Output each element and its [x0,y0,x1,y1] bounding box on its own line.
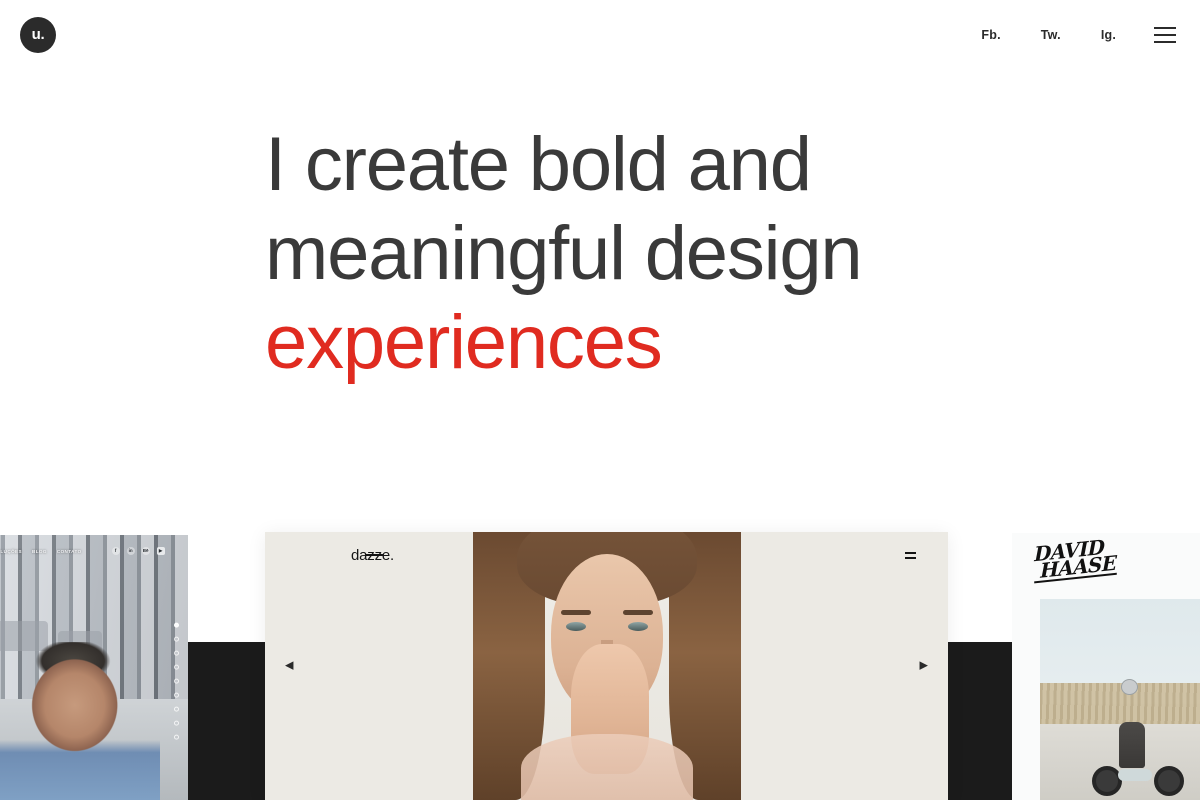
dazze-logo-pre: da [351,547,367,564]
eyebrow-left [561,610,591,615]
project-card-left[interactable]: SOLUÇÕES BLOG CONTATO f in Bē ▶ [0,535,188,800]
dazze-logo-post: e. [382,547,394,564]
left-card-nav-blog[interactable]: BLOG [32,549,47,554]
burger-bar-3 [1154,41,1176,43]
wheel-rear [1154,766,1184,796]
logo-text: u. [32,27,45,42]
behance-icon[interactable]: Bē [142,547,150,555]
left-card-nav-solucoes[interactable]: SOLUÇÕES [0,549,22,554]
slide-dot[interactable] [174,721,179,726]
motorcycle-beach-photo [1040,599,1200,800]
project-card-right[interactable]: DAVID HAASE [1012,533,1200,800]
slide-dot[interactable] [174,665,179,670]
youtube-icon[interactable]: ▶ [157,547,165,555]
david-haase-logo-line-2: HAASE [1034,555,1116,584]
slide-dot[interactable] [174,707,179,712]
linkedin-icon[interactable]: in [127,547,135,555]
nav-link-instagram[interactable]: Ig. [1101,22,1116,48]
equals-menu-icon[interactable] [905,552,916,559]
slide-dot[interactable] [174,693,179,698]
sleeve [521,734,693,800]
left-card-social-icons: f in Bē ▶ [112,547,165,555]
equals-bar-1 [905,552,916,554]
slide-dot[interactable] [174,679,179,684]
rider-body [1119,722,1145,768]
hero-headline-line-3-accent: experiences [265,298,1200,387]
fuel-tank [1118,769,1152,781]
project-showcase-strip: SOLUÇÕES BLOG CONTATO f in Bē ▶ [0,500,1200,800]
primary-nav: Fb. Tw. Ig. [941,22,1176,48]
burger-bar-1 [1154,27,1176,29]
eye-left [566,622,586,631]
nav-link-twitter[interactable]: Tw. [1041,22,1061,48]
dazze-logo-zz: zz [367,547,382,564]
eye-right [628,622,648,631]
hamburger-menu-icon[interactable] [1154,27,1176,43]
david-haase-logo[interactable]: DAVID HAASE [1034,538,1116,584]
carousel-prev-arrow[interactable]: ◀ [285,661,293,672]
site-header: u. Fb. Tw. Ig. [0,0,1200,70]
left-card-navbar: SOLUÇÕES BLOG CONTATO f in Bē ▶ [0,535,188,567]
carousel-next-arrow[interactable]: ▶ [920,661,928,672]
logo-mark[interactable]: u. [20,17,56,53]
portrait-photo-man [0,642,160,800]
dazze-logo[interactable]: dazze. [351,547,394,564]
left-card-nav-contato[interactable]: CONTATO [57,549,82,554]
left-card-nav-links: SOLUÇÕES BLOG CONTATO [0,549,82,554]
dune-grass [1040,683,1200,727]
hero-section: I create bold and meaningful design expe… [0,120,1200,387]
project-card-center[interactable]: dazze. ◀ ▶ [265,532,948,800]
slide-dot[interactable] [174,637,179,642]
slide-dot-indicators[interactable] [174,623,179,740]
hero-headline-line-1: I create bold and [265,120,1200,209]
nav-link-facebook[interactable]: Fb. [981,22,1000,48]
center-card-header: dazze. [265,532,948,578]
burger-bar-2 [1154,34,1176,36]
eyebrow-right [623,610,653,615]
wheel-front [1092,766,1122,796]
facebook-icon[interactable]: f [112,547,120,555]
equals-bar-2 [905,557,916,559]
slide-dot[interactable] [174,623,179,628]
slide-dot[interactable] [174,735,179,740]
slide-dot[interactable] [174,651,179,656]
hero-headline-line-2: meaningful design [265,209,1200,298]
